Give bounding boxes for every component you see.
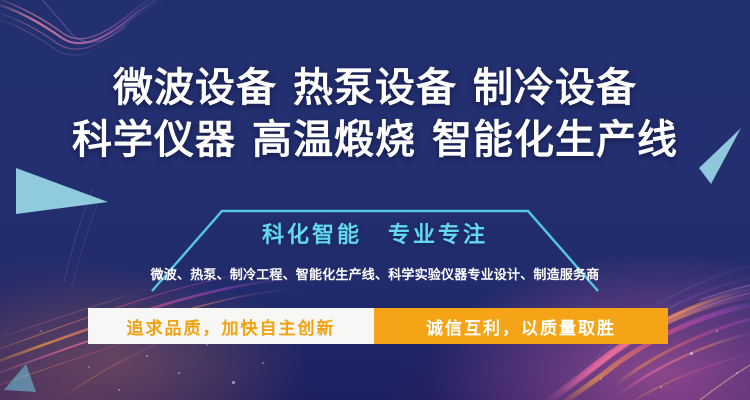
headline-line-2: 科学仪器高温煅烧智能化生产线 bbox=[0, 114, 750, 166]
headline-item-1: 微波设备 bbox=[113, 66, 277, 110]
cyan-arrow-wedge-bottom bbox=[4, 364, 38, 394]
slogan-text: 科化智能专业专注 bbox=[150, 220, 600, 250]
headline-item-6: 智能化生产线 bbox=[432, 118, 678, 162]
slogan-subline: 微波、热泵、制冷工程、智能化生产线、科学实验仪器专业设计、制造服务商 bbox=[130, 264, 620, 283]
cyan-arrow-wedge-left bbox=[16, 168, 110, 214]
headline-item-2: 热泵设备 bbox=[293, 66, 457, 110]
headline-item-5: 高温煅烧 bbox=[252, 118, 416, 162]
headline-item-3: 制冷设备 bbox=[473, 66, 637, 110]
cta-button-integrity[interactable]: 诚信互利，以质量取胜 bbox=[374, 308, 668, 344]
cta-button-row: 追求品质，加快自主创新 诚信互利，以质量取胜 bbox=[88, 308, 668, 344]
headline-line-1: 微波设备热泵设备制冷设备 bbox=[0, 62, 750, 114]
promo-banner: 微波设备热泵设备制冷设备 科学仪器高温煅烧智能化生产线 科化智能专业专注 微波、… bbox=[0, 0, 750, 400]
cta-button-quality[interactable]: 追求品质，加快自主创新 bbox=[88, 308, 374, 344]
slogan-part-1: 科化智能 bbox=[262, 222, 362, 247]
headline-item-4: 科学仪器 bbox=[72, 118, 236, 162]
headline-block: 微波设备热泵设备制冷设备 科学仪器高温煅烧智能化生产线 bbox=[0, 62, 750, 166]
slogan-part-2: 专业专注 bbox=[388, 222, 488, 247]
